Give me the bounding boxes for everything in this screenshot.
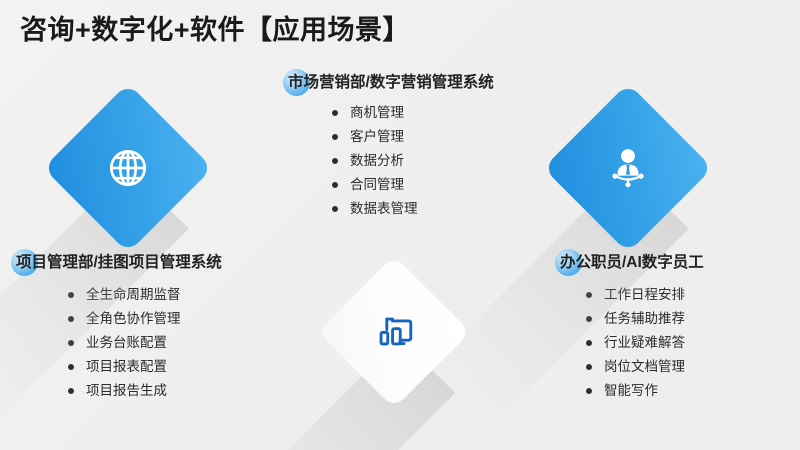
list-item[interactable]: 岗位文档管理 <box>584 355 704 379</box>
multi-device-icon <box>340 278 448 386</box>
node-left-globe[interactable] <box>68 108 188 228</box>
list-item[interactable]: 行业疑难解答 <box>584 331 704 355</box>
node-center-devices[interactable] <box>340 278 460 398</box>
node-right-staff[interactable] <box>568 108 688 228</box>
business-person-icon <box>568 108 688 228</box>
list-item[interactable]: 项目报表配置 <box>66 355 222 379</box>
list-item[interactable]: 数据分析 <box>330 149 494 173</box>
bullet-list-office: 工作日程安排 任务辅助推荐 行业疑难解答 岗位文档管理 智能写作 <box>584 283 704 403</box>
list-item[interactable]: 客户管理 <box>330 125 494 149</box>
list-item[interactable]: 项目报告生成 <box>66 379 222 403</box>
page-title: 咨询+数字化+软件【应用场景】 <box>20 8 410 47</box>
group-heading-office: 办公职员/AI数字员工 <box>560 252 704 274</box>
group-heading-project: 项目管理部/挂图项目管理系统 <box>16 252 222 274</box>
bullet-list-marketing: 商机管理 客户管理 数据分析 合同管理 数据表管理 <box>330 101 494 221</box>
group-heading-text: 办公职员/AI数字员工 <box>560 254 704 271</box>
group-heading-marketing: 市场营销部/数字营销管理系统 <box>288 72 494 94</box>
list-item[interactable]: 业务台账配置 <box>66 331 222 355</box>
group-project: 项目管理部/挂图项目管理系统 全生命周期监督 全角色协作管理 业务台账配置 项目… <box>16 252 222 403</box>
group-office: 办公职员/AI数字员工 工作日程安排 任务辅助推荐 行业疑难解答 岗位文档管理 … <box>560 252 704 403</box>
globe-icon <box>68 108 188 228</box>
group-heading-text: 项目管理部/挂图项目管理系统 <box>16 254 222 271</box>
slide-canvas: 咨询+数字化+软件【应用场景】 <box>0 0 800 450</box>
bullet-list-project: 全生命周期监督 全角色协作管理 业务台账配置 项目报表配置 项目报告生成 <box>66 283 222 403</box>
list-item[interactable]: 合同管理 <box>330 173 494 197</box>
group-marketing: 市场营销部/数字营销管理系统 商机管理 客户管理 数据分析 合同管理 数据表管理 <box>288 72 494 221</box>
list-item[interactable]: 数据表管理 <box>330 197 494 221</box>
list-item[interactable]: 智能写作 <box>584 379 704 403</box>
list-item[interactable]: 商机管理 <box>330 101 494 125</box>
list-item[interactable]: 任务辅助推荐 <box>584 307 704 331</box>
group-heading-text: 市场营销部/数字营销管理系统 <box>288 74 494 91</box>
list-item[interactable]: 全生命周期监督 <box>66 283 222 307</box>
list-item[interactable]: 工作日程安排 <box>584 283 704 307</box>
list-item[interactable]: 全角色协作管理 <box>66 307 222 331</box>
